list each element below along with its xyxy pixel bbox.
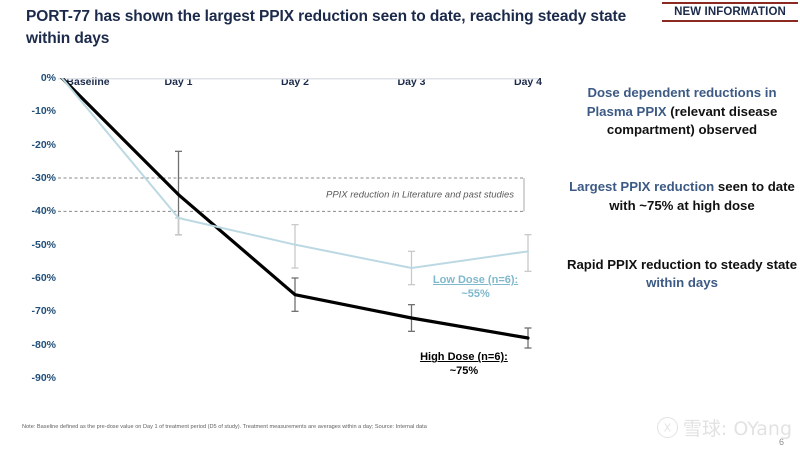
ppix-reduction-line-chart: 0%-10%-20%-30%-40%-50%-60%-70%-80%-90% B… [0, 78, 560, 418]
low-dose-callout-value: ~55% [433, 288, 518, 302]
low-dose-callout: Low Dose (n=6):~55% [433, 274, 518, 302]
insight-2-highlight: Largest PPIX reduction [569, 179, 714, 194]
y-axis-tick-label: -60% [14, 272, 56, 284]
chart-footnote: Note: Baseline defined as the pre-dose v… [22, 424, 567, 431]
page-number: 6 [779, 437, 784, 447]
error-bar [292, 225, 299, 268]
y-axis-tick-label: -20% [14, 139, 56, 151]
insight-block-2: Largest PPIX reduction seen to date with… [566, 178, 798, 215]
high-dose-callout: High Dose (n=6):~75% [420, 351, 508, 379]
status-badge: NEW INFORMATION [662, 2, 798, 22]
watermark-logo-icon [657, 417, 678, 438]
insight-3-highlight: within days [646, 275, 718, 290]
y-axis-tick-label: -40% [14, 205, 56, 217]
y-axis-tick-label: -80% [14, 339, 56, 351]
insight-block-1: Dose dependent reductions in Plasma PPIX… [566, 84, 798, 140]
insight-3-lead: Rapid PPIX reduction to steady state [567, 257, 797, 272]
watermark: 雪球: OYang [657, 414, 792, 441]
literature-band-label: PPIX reduction in Literature and past st… [326, 189, 514, 200]
high-dose-callout-value: ~75% [420, 365, 508, 379]
plot-area: BaselineDay 1Day 2Day 3Day 4PPIX reducti… [58, 78, 538, 378]
y-axis-tick-label: -30% [14, 172, 56, 184]
y-axis-tick-label: 0% [14, 72, 56, 84]
chart-svg [58, 78, 538, 378]
status-badge-label: NEW INFORMATION [662, 6, 798, 18]
y-axis-tick-label: -90% [14, 372, 56, 384]
y-axis-tick-label: -70% [14, 305, 56, 317]
error-bar [525, 235, 532, 272]
watermark-text: 雪球: OYang [683, 414, 792, 441]
insights-panel: Dose dependent reductions in Plasma PPIX… [566, 84, 798, 293]
y-axis-tick-label: -10% [14, 105, 56, 117]
error-bar [175, 218, 182, 235]
insight-block-3: Rapid PPIX reduction to steady state wit… [566, 256, 798, 293]
page-title: PORT-77 has shown the largest PPIX reduc… [26, 6, 646, 50]
y-axis: 0%-10%-20%-30%-40%-50%-60%-70%-80%-90% [0, 78, 56, 418]
low-dose-callout-headline: Low Dose (n=6): [433, 274, 518, 288]
y-axis-tick-label: -50% [14, 239, 56, 251]
high-dose-callout-headline: High Dose (n=6): [420, 351, 508, 365]
